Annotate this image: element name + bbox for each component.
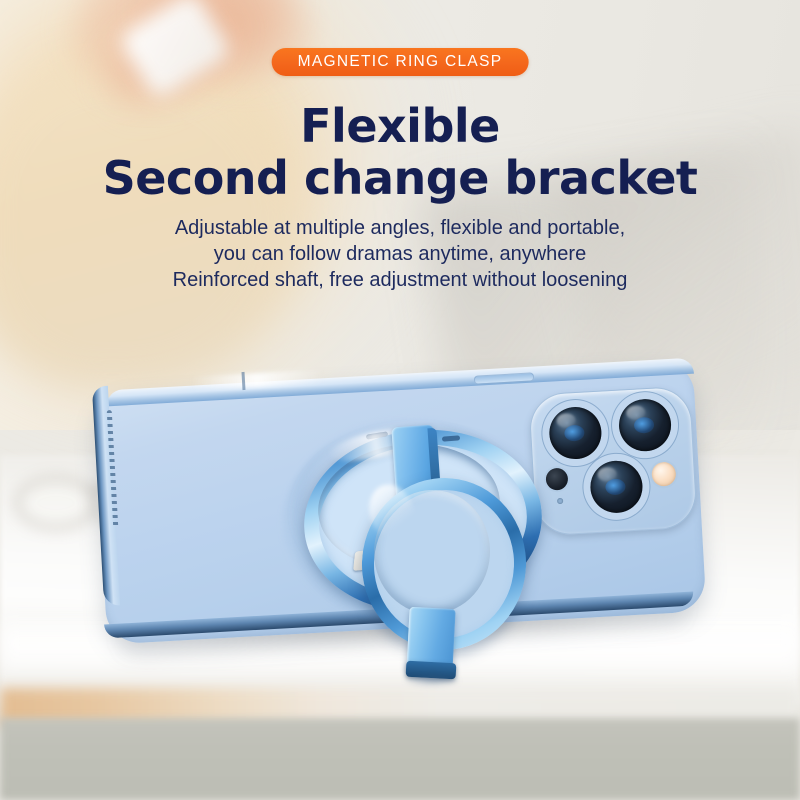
description-block: Adjustable at multiple angles, flexible … (0, 215, 800, 293)
headline-line-2: Second change bracket (0, 155, 800, 201)
eyeglasses-left-lens (15, 476, 97, 530)
magnetic-ring-stand (292, 430, 542, 660)
product-phone (92, 368, 722, 668)
camera-module (528, 386, 698, 537)
product-banner: MAGNETIC RING CLASP Flexible Second chan… (0, 0, 800, 800)
category-badge: MAGNETIC RING CLASP (272, 48, 529, 76)
camera-microphone-icon (557, 498, 563, 504)
camera-flash-icon (651, 462, 676, 487)
description-line-2: you can follow dramas anytime, anywhere (0, 241, 800, 267)
headline-line-1: Flexible (0, 103, 800, 149)
kickstand-contact-shadow (404, 676, 460, 686)
camera-lens-wide-icon (548, 406, 603, 461)
floor-surface (0, 718, 800, 800)
description-line-1: Adjustable at multiple angles, flexible … (0, 215, 800, 241)
lidar-sensor-icon (545, 468, 568, 491)
camera-lens-telephoto-icon (618, 398, 673, 453)
description-line-3: Reinforced shaft, free adjustment withou… (0, 267, 800, 293)
camera-lens-ultrawide-icon (589, 459, 644, 514)
